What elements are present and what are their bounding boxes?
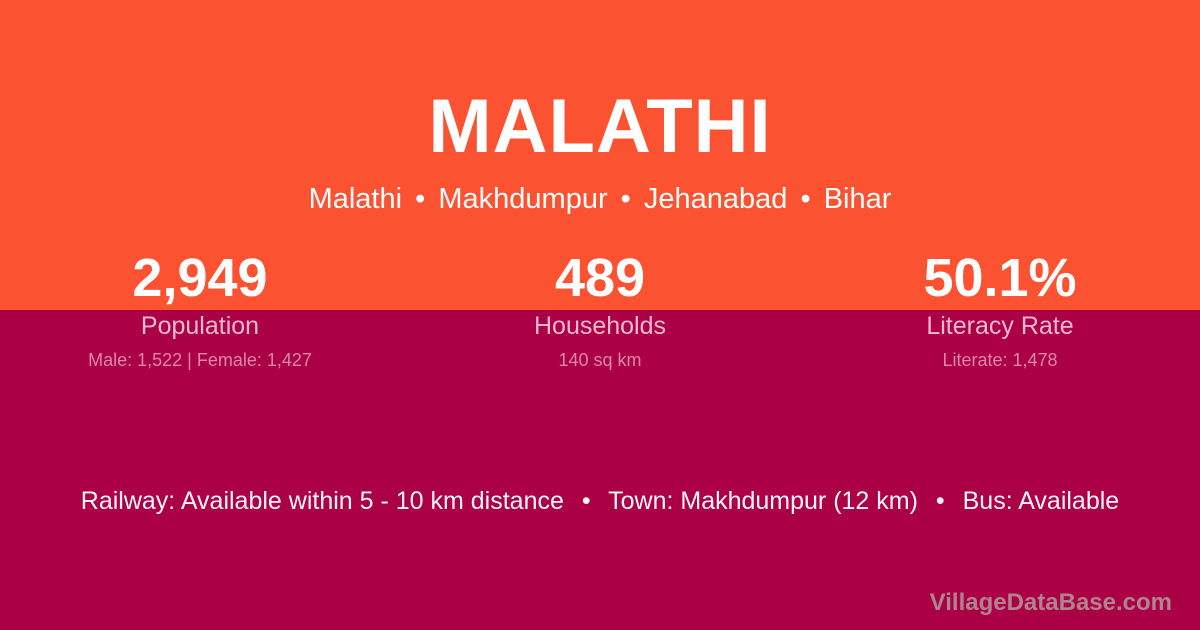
- facility-separator: •: [925, 487, 956, 515]
- breadcrumb-separator: •: [616, 183, 636, 215]
- site-brand: VillageDataBase.com: [930, 588, 1172, 618]
- facility-town: Town: Makhdumpur (12 km): [608, 487, 918, 515]
- breadcrumb-state: Bihar: [824, 183, 892, 215]
- stat-detail: Literate: 1,478: [800, 349, 1200, 371]
- breadcrumb-block: Makhdumpur: [438, 183, 607, 215]
- stat-population: 2,949 Population Male: 1,522 | Female: 1…: [0, 247, 400, 371]
- facility-railway: Railway: Available within 5 - 10 km dist…: [81, 487, 564, 515]
- facility-bus: Bus: Available: [963, 487, 1120, 515]
- breadcrumb-village: Malathi: [309, 183, 403, 215]
- facility-separator: •: [571, 487, 602, 515]
- breadcrumb-separator: •: [795, 183, 815, 215]
- stat-literacy-rate: 50.1% Literacy Rate Literate: 1,478: [800, 247, 1200, 371]
- breadcrumb: Malathi • Makhdumpur • Jehanabad • Bihar: [0, 181, 1200, 217]
- stat-label: Population: [0, 311, 400, 341]
- stat-detail: Male: 1,522 | Female: 1,427: [0, 349, 400, 371]
- page-title: MALATHI: [0, 84, 1200, 170]
- breadcrumb-district: Jehanabad: [644, 183, 788, 215]
- stat-label: Literacy Rate: [800, 311, 1200, 341]
- stats-row: 2,949 Population Male: 1,522 | Female: 1…: [0, 247, 1200, 371]
- stat-label: Households: [400, 311, 800, 341]
- stat-value: 2,949: [0, 247, 400, 309]
- stat-value: 50.1%: [800, 247, 1200, 309]
- stat-detail: 140 sq km: [400, 349, 800, 371]
- card-content: MALATHI Malathi • Makhdumpur • Jehanabad…: [0, 0, 1200, 630]
- facilities-line: Railway: Available within 5 - 10 km dist…: [0, 485, 1200, 517]
- stat-households: 489 Households 140 sq km: [400, 247, 800, 371]
- breadcrumb-separator: •: [410, 183, 430, 215]
- village-info-card: MALATHI Malathi • Makhdumpur • Jehanabad…: [0, 0, 1200, 630]
- stat-value: 489: [400, 247, 800, 309]
